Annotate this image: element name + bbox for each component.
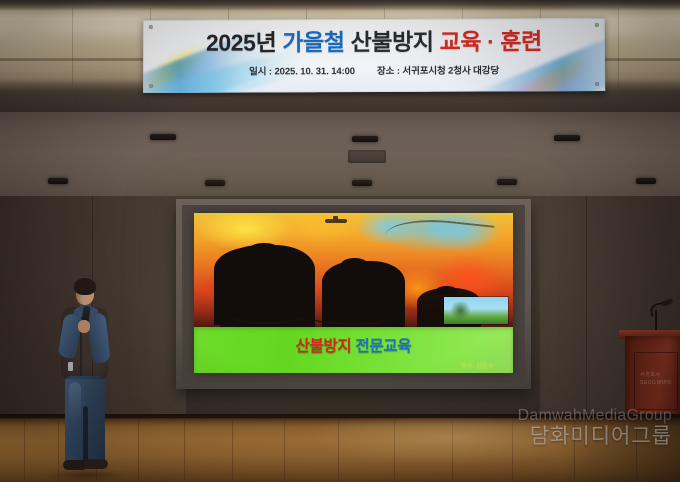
presenter-badge [68, 362, 73, 371]
presenter-shoe-right [84, 459, 108, 469]
podium-logo-line2: SEOGWIPO [640, 380, 672, 386]
ceiling-soffit [0, 112, 680, 204]
artwork-helicopter-icon [325, 219, 347, 223]
presenter-jeans-highlight [69, 382, 81, 422]
stage-floor-shadow-right [560, 418, 680, 482]
auditorium-photo: 2025년 가을철 산불방지 교육 · 훈련 일시 : 2025. 10. 31… [0, 0, 680, 482]
banner-venue: 장소 : 서귀포시청 2청사 대강당 [377, 65, 499, 77]
artwork-firefighter-1-helmet [232, 254, 296, 260]
ceiling-speaker-grille [348, 150, 386, 163]
banner-title: 2025년 가을철 산불방지 교육 · 훈련 [143, 30, 605, 55]
presentation-slide: 산불방지 전문교육 강사. 김준수 [194, 213, 513, 373]
banner-datetime: 일시 : 2025. 10. 31. 14:00 [249, 66, 355, 77]
podium-logo-text: 서귀포시 SEOGWIPO [640, 372, 672, 387]
slide-title-band: 산불방지 전문교육 강사. 김준수 [194, 327, 513, 373]
slide-artwork-wildfire [194, 213, 513, 327]
presenter-shoe-left [63, 460, 86, 470]
banner-title-year: 2025년 [206, 29, 276, 55]
slide-instructor-credit: 강사. 김준수 [461, 361, 494, 370]
screen-surface: 산불방지 전문교육 강사. 김준수 [182, 205, 525, 383]
slide-title: 산불방지 전문교육 [194, 339, 513, 355]
artwork-firefighter-3-head [436, 286, 457, 295]
inset-photo-foliage [450, 302, 472, 321]
banner-title-season: 가을철 [282, 29, 344, 55]
slide-title-red: 산불방지 [296, 338, 352, 355]
banner-title-topic: 산불방지 [351, 29, 434, 55]
event-banner: 2025년 가을철 산불방지 교육 · 훈련 일시 : 2025. 10. 31… [143, 18, 605, 93]
podium-logo-line1: 서귀포시 [640, 372, 660, 378]
banner-subtitle: 일시 : 2025. 10. 31. 14:00장소 : 서귀포시청 2청사 대… [143, 62, 605, 78]
presenter-hand [78, 320, 90, 333]
slide-title-blue: 전문교육 [356, 338, 412, 355]
banner-title-type: 교육 · 훈련 [440, 28, 542, 54]
presenter [52, 278, 118, 478]
projector-screen: 산불방지 전문교육 강사. 김준수 [176, 199, 531, 389]
presenter-leg-separation [83, 406, 88, 464]
artwork-firefighter-2-helmet [328, 269, 382, 274]
presenter-hair [74, 278, 96, 295]
slide-inset-photo [444, 297, 508, 324]
